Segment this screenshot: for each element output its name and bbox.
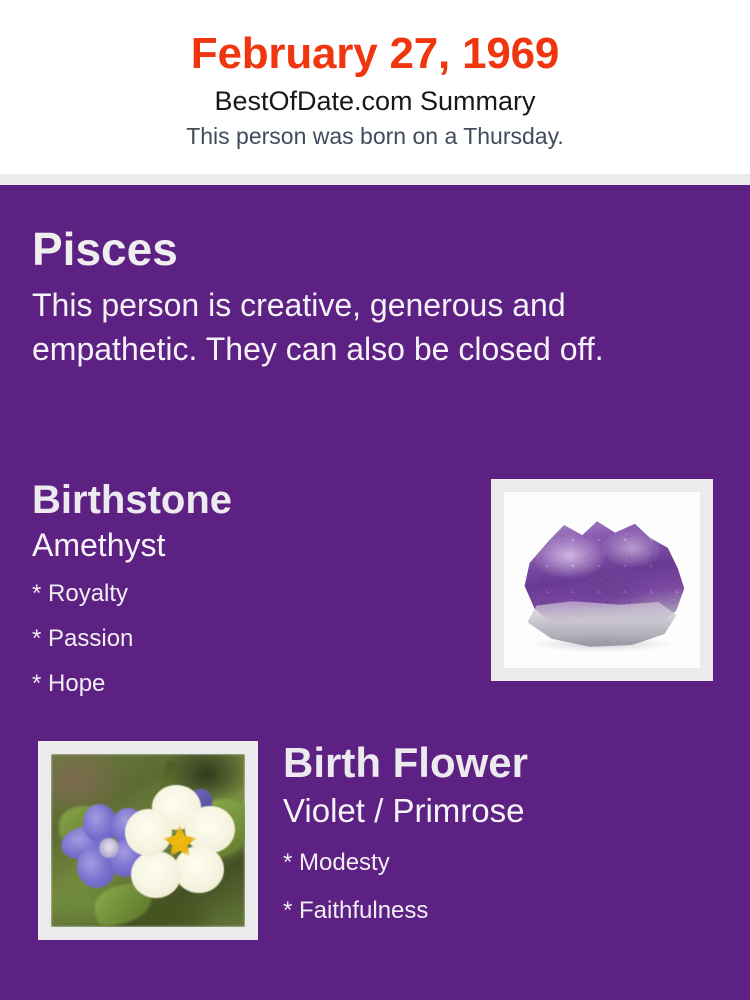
birth-flower-value: Violet / Primrose <box>283 789 723 833</box>
amethyst-image-frame <box>491 479 713 681</box>
birthstone-title: Birthstone <box>32 475 462 525</box>
list-item: * Hope <box>32 661 462 706</box>
site-subtitle: BestOfDate.com Summary <box>0 80 750 117</box>
birth-flower-title: Birth Flower <box>283 737 723 789</box>
summary-card: February 27, 1969 BestOfDate.com Summary… <box>0 0 750 1000</box>
zodiac-section: Pisces This person is creative, generous… <box>32 221 712 371</box>
petal <box>131 851 181 898</box>
page-title: February 27, 1969 <box>0 0 750 80</box>
birth-flower-section: Birth Flower Violet / Primrose * Modesty… <box>283 737 723 935</box>
zodiac-title: Pisces <box>32 221 712 277</box>
petal <box>125 809 172 856</box>
list-item: * Modesty <box>283 839 723 887</box>
amethyst-crystal-photo <box>504 492 700 668</box>
list-item: * Faithfulness <box>283 887 723 935</box>
birthstone-value: Amethyst <box>32 525 462 565</box>
zodiac-description: This person is creative, generous and em… <box>32 277 704 371</box>
birth-flower-trait-list: * Modesty * Faithfulness <box>283 833 723 935</box>
birth-weekday-note: This person was born on a Thursday. <box>0 117 750 150</box>
list-item: * Royalty <box>32 571 462 616</box>
header-divider <box>0 174 750 185</box>
violet-primrose-flower-photo <box>51 754 245 927</box>
crystal-shadow <box>531 636 672 652</box>
card-header: February 27, 1969 BestOfDate.com Summary… <box>0 0 750 174</box>
primrose-flower-icon <box>125 785 238 903</box>
birthstone-trait-list: * Royalty * Passion * Hope <box>32 565 462 706</box>
petal <box>174 846 224 893</box>
flower-image-frame <box>38 741 258 940</box>
list-item: * Passion <box>32 616 462 661</box>
birthstone-section: Birthstone Amethyst * Royalty * Passion … <box>32 475 462 706</box>
